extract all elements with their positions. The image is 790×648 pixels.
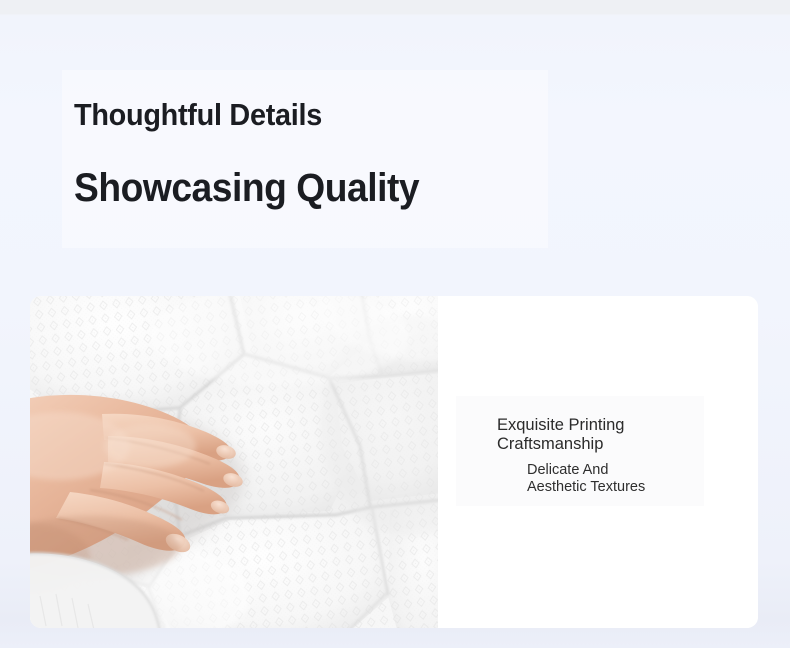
feature-card: Exquisite Printing Craftsmanship Delicat…: [30, 296, 758, 628]
headings-group: Thoughtful Details Showcasing Quality: [74, 96, 694, 212]
feature-subheading-line-1: Delicate And: [527, 462, 727, 479]
page-title-line-2: Showcasing Quality: [74, 164, 651, 212]
feature-subheading-block: Delicate And Aesthetic Textures: [527, 462, 727, 496]
page-root: Thoughtful Details Showcasing Quality: [0, 0, 790, 648]
text-panel: Exquisite Printing Craftsmanship Delicat…: [438, 296, 758, 628]
mattress-photo-illustration: [30, 296, 438, 628]
feature-subheading-line-2: Aesthetic Textures: [527, 479, 727, 496]
feature-heading-block: Exquisite Printing Craftsmanship: [497, 416, 712, 454]
feature-heading-line-1: Exquisite Printing: [497, 416, 712, 435]
top-strip: [0, 0, 790, 14]
mattress-photo: [30, 296, 438, 628]
feature-heading-line-2: Craftsmanship: [497, 435, 712, 454]
page-title-line-1: Thoughtful Details: [74, 96, 651, 134]
